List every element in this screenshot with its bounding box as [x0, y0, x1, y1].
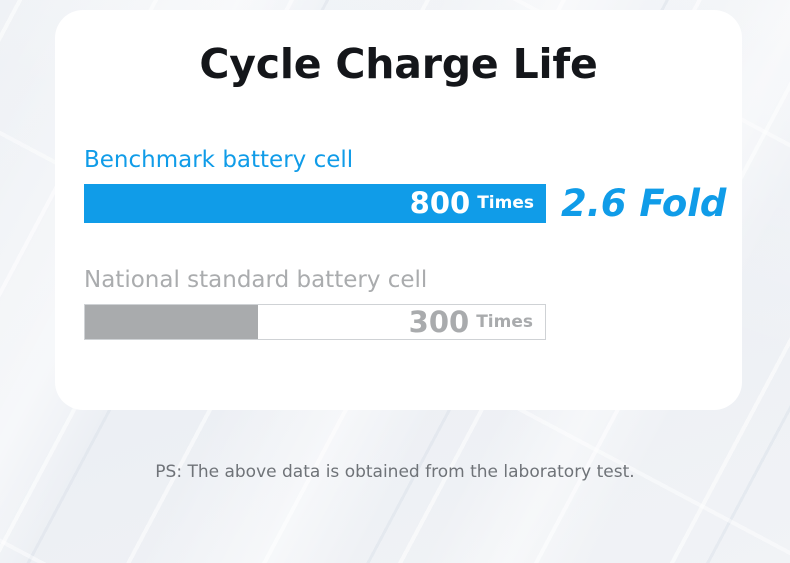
bar-row-benchmark: Benchmark battery cell 800 Times 2.6 Fol… [84, 146, 726, 223]
bar-row-national: National standard battery cell 300 Times [84, 266, 546, 340]
bar-value-national: 300 [409, 308, 470, 337]
bar-value-benchmark: 800 [410, 189, 471, 218]
infographic-root: Cycle Charge Life Benchmark battery cell… [0, 0, 790, 563]
bar-unit-national: Times [476, 314, 533, 331]
footnote-text: PS: The above data is obtained from the … [0, 462, 790, 482]
content-card: Cycle Charge Life Benchmark battery cell… [55, 10, 742, 410]
page-title: Cycle Charge Life [55, 42, 742, 87]
bar-track-national: 300 Times [84, 304, 546, 340]
bar-track-benchmark: 800 Times [84, 184, 546, 223]
bar-group-benchmark: 800 Times 2.6 Fold [84, 184, 726, 223]
bar-unit-benchmark: Times [477, 195, 534, 212]
bar-label-benchmark: Benchmark battery cell [84, 146, 726, 174]
fold-badge: 2.6 Fold [561, 185, 726, 222]
bar-label-national: National standard battery cell [84, 266, 546, 294]
bar-fill-national [85, 305, 258, 339]
bar-group-national: 300 Times [84, 304, 546, 340]
